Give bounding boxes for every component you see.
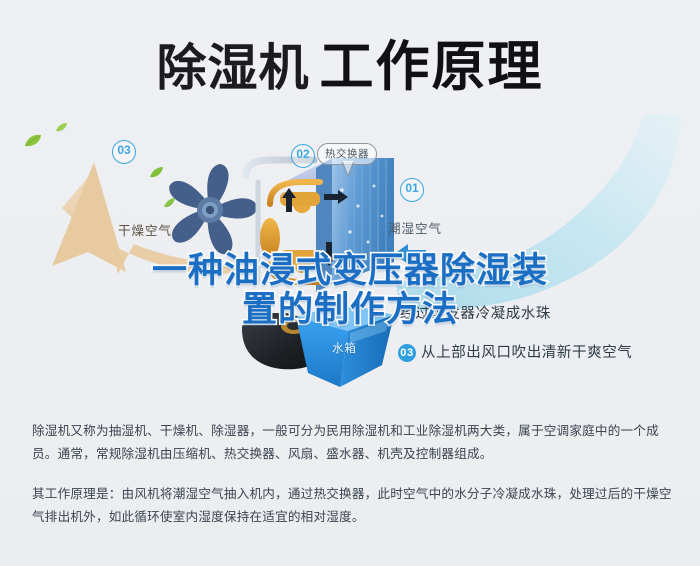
leaf-icon — [24, 134, 42, 153]
humid-air-label: 潮湿空气 — [388, 218, 442, 237]
callout-tail-icon — [341, 161, 355, 177]
leaf-icon — [56, 120, 68, 138]
caption-step-03: 03从上部出风口吹出清新干爽空气 — [398, 341, 632, 362]
page-title-part2: 工作原理 — [320, 35, 544, 98]
water-tank-label: 水箱 — [332, 340, 357, 356]
page-title-part1: 除湿机 — [157, 39, 310, 97]
paragraph-2-text: 其工作原理是：由风机将潮湿空气抽入机内，通过热交换器，此时空气中的水分子冷凝成水… — [32, 483, 672, 529]
step-badge-02: 02 — [291, 144, 315, 168]
step-badge-01: 01 — [400, 178, 424, 202]
overlay-title-line2: 置的制作方法 — [0, 291, 700, 330]
caption-step-03-text: 从上部出风口吹出清新干爽空气 — [421, 345, 632, 361]
page-title: 除湿机工作原理 — [0, 22, 700, 101]
paragraph-1-text: 除湿机又称为抽湿机、干燥机、除湿器，一般可分为民用除湿机和工业除湿机两大类，属于… — [32, 420, 672, 466]
infographic-page: 除湿机工作原理 — [0, 0, 700, 566]
step-badge-03: 03 — [112, 140, 136, 164]
overlay-title: 一种油浸式变压器除湿装 置的制作方法 — [0, 252, 700, 330]
overlay-title-line1: 一种油浸式变压器除湿装 — [0, 252, 700, 291]
dry-air-label: 干燥空气 — [118, 220, 172, 239]
body-paragraph-2: 其工作原理是：由风机将潮湿空气抽入机内，通过热交换器，此时空气中的水分子冷凝成水… — [32, 483, 672, 529]
body-paragraph-1: 除湿机又称为抽湿机、干燥机、除湿器，一般可分为民用除湿机和工业除湿机两大类，属于… — [32, 420, 672, 466]
step-badge-inline-03: 03 — [398, 344, 416, 362]
